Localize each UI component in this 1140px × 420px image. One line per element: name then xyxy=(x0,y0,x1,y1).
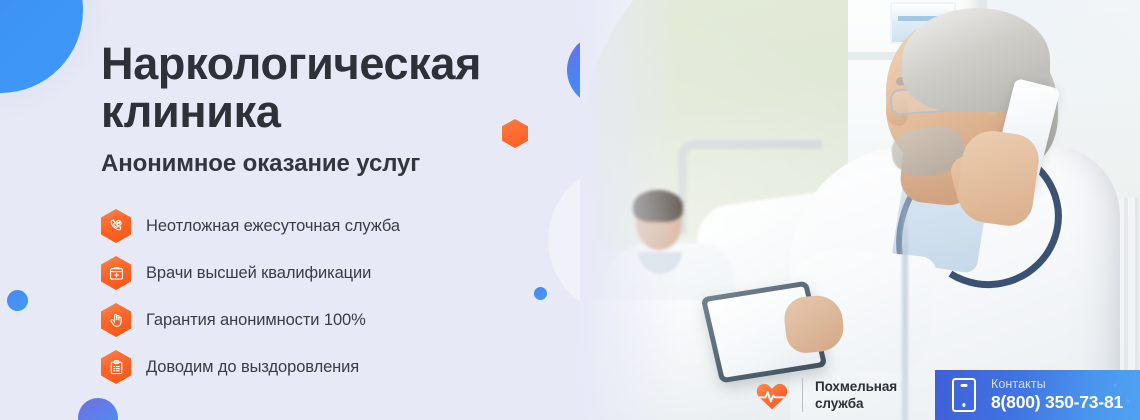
patient-hair xyxy=(633,190,683,222)
list-item: Гарантия анонимности 100% xyxy=(101,299,531,341)
contacts-text: Контакты 8(800) 350-73-81 xyxy=(991,377,1123,413)
banner-content: Наркологическая клиника Анонимное оказан… xyxy=(101,0,531,420)
list-item: Доводим до выздоровления xyxy=(101,346,531,388)
doctor-coat-fold xyxy=(902,196,908,420)
logo-divider xyxy=(802,378,803,412)
brand-logo[interactable]: Похмельная служба xyxy=(755,374,897,416)
logo-text-line1: Похмельная xyxy=(815,379,897,394)
feature-label: Гарантия анонимности 100% xyxy=(146,311,366,330)
photo-scene xyxy=(580,0,1140,420)
page-title: Наркологическая клиника xyxy=(101,0,531,136)
feature-label: Врачи высшей квалификации xyxy=(146,264,371,283)
heart-pulse-icon xyxy=(755,379,789,411)
phone-home-button xyxy=(962,403,965,406)
clipboard-checklist-icon xyxy=(101,350,131,384)
doctor-raised-hand xyxy=(954,127,1042,229)
contacts-block[interactable]: Контакты 8(800) 350-73-81 xyxy=(935,370,1140,420)
logo-text: Похмельная служба xyxy=(815,378,897,412)
feature-label: Доводим до выздоровления xyxy=(146,358,359,377)
page-subtitle: Анонимное оказание услуг xyxy=(101,150,531,178)
phone-speaker xyxy=(961,384,968,387)
clinic-promo-banner: Наркологическая клиника Анонимное оказан… xyxy=(0,0,1140,420)
hand-stop-icon xyxy=(101,303,131,337)
list-item: Неотложная ежесуточная служба xyxy=(101,205,531,247)
doctor-photo xyxy=(580,0,1140,420)
medical-bag-icon xyxy=(101,256,131,290)
logo-text-line2: служба xyxy=(815,396,863,411)
phone-call-icon xyxy=(101,209,131,243)
mid-left-blue-dot xyxy=(7,290,28,311)
contacts-label: Контакты xyxy=(991,377,1123,392)
center-blue-dot xyxy=(534,287,547,300)
contacts-phone-number[interactable]: 8(800) 350-73-81 xyxy=(991,392,1123,413)
mobile-phone-icon xyxy=(952,378,976,412)
feature-list: Неотложная ежесуточная служба Врачи высш… xyxy=(101,205,531,388)
feature-label: Неотложная ежесуточная служба xyxy=(146,217,400,236)
list-item: Врачи высшей квалификации xyxy=(101,252,531,294)
